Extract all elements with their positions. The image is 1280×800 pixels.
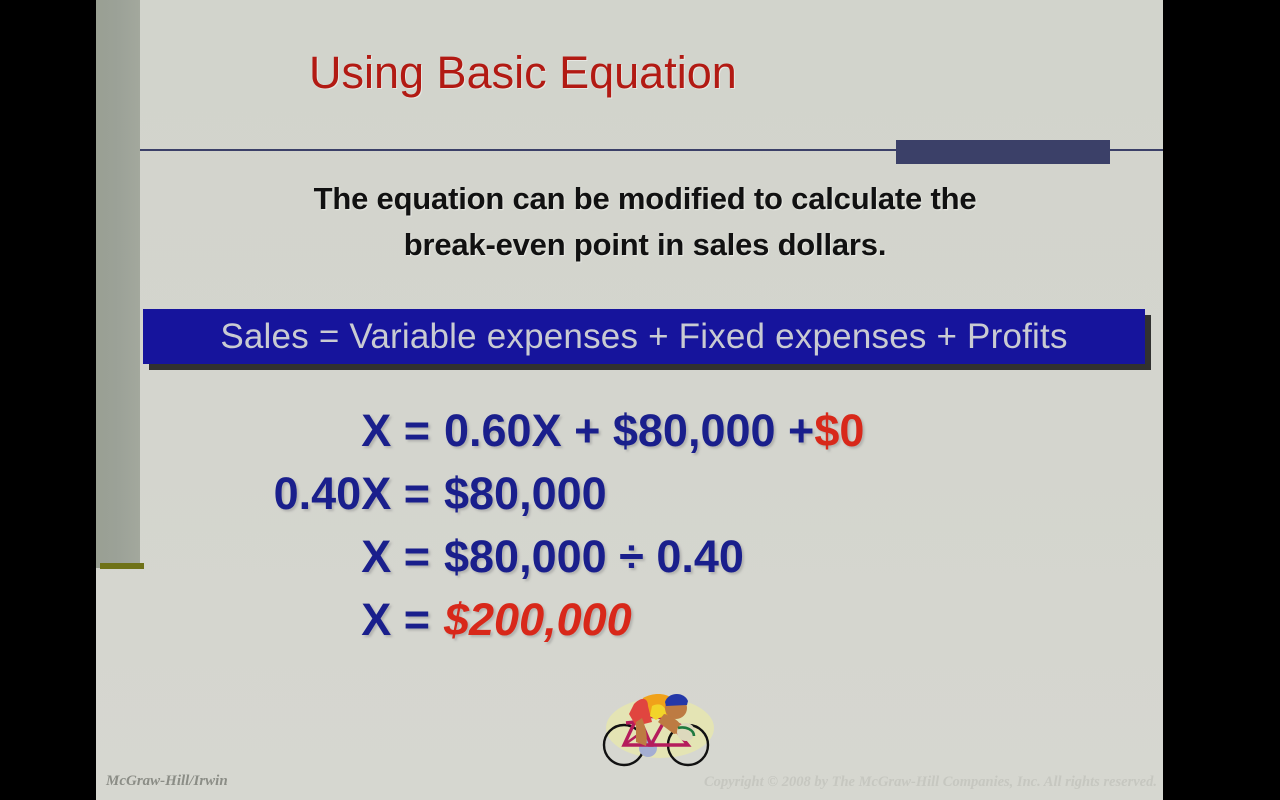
subtitle-line-1: The equation can be modified to calculat… <box>140 176 1150 222</box>
presentation-slide: Using Basic Equation The equation can be… <box>96 0 1163 800</box>
derivation-rhs: $80,000 <box>444 468 607 520</box>
title-navy-tab <box>896 140 1110 164</box>
derivation-block: X = 0.60X + $80,000 + $0 0.40X = $80,000… <box>140 405 1150 657</box>
derivation-lhs: X = <box>140 594 444 646</box>
subtitle-line-2: break-even point in sales dollars. <box>140 222 1150 268</box>
footer-publisher: McGraw-Hill/Irwin <box>106 773 228 790</box>
derivation-rhs-accent: $0 <box>814 405 864 457</box>
derivation-row: 0.40X = $80,000 <box>140 468 1150 531</box>
derivation-rhs: 0.60X + $80,000 + <box>444 405 814 457</box>
slide-title: Using Basic Equation <box>309 47 737 99</box>
derivation-row: X = $200,000 <box>140 594 1150 657</box>
derivation-rhs: $80,000 ÷ 0.40 <box>444 531 744 583</box>
cyclist-clipart <box>596 688 726 768</box>
left-decorative-band <box>96 0 140 568</box>
derivation-row: X = 0.60X + $80,000 + $0 <box>140 405 1150 468</box>
derivation-result: $200,000 <box>444 594 632 646</box>
screen-canvas: Using Basic Equation The equation can be… <box>0 0 1280 800</box>
left-band-olive-accent <box>100 563 144 569</box>
derivation-lhs: 0.40X = <box>140 468 444 520</box>
derivation-lhs: X = <box>140 405 444 457</box>
footer-copyright: Copyright © 2008 by The McGraw-Hill Comp… <box>704 774 1157 791</box>
derivation-row: X = $80,000 ÷ 0.40 <box>140 531 1150 594</box>
derivation-lhs: X = <box>140 531 444 583</box>
equation-banner: Sales = Variable expenses + Fixed expens… <box>143 309 1145 364</box>
slide-subtitle: The equation can be modified to calculat… <box>140 176 1150 268</box>
equation-banner-text: Sales = Variable expenses + Fixed expens… <box>220 317 1067 357</box>
